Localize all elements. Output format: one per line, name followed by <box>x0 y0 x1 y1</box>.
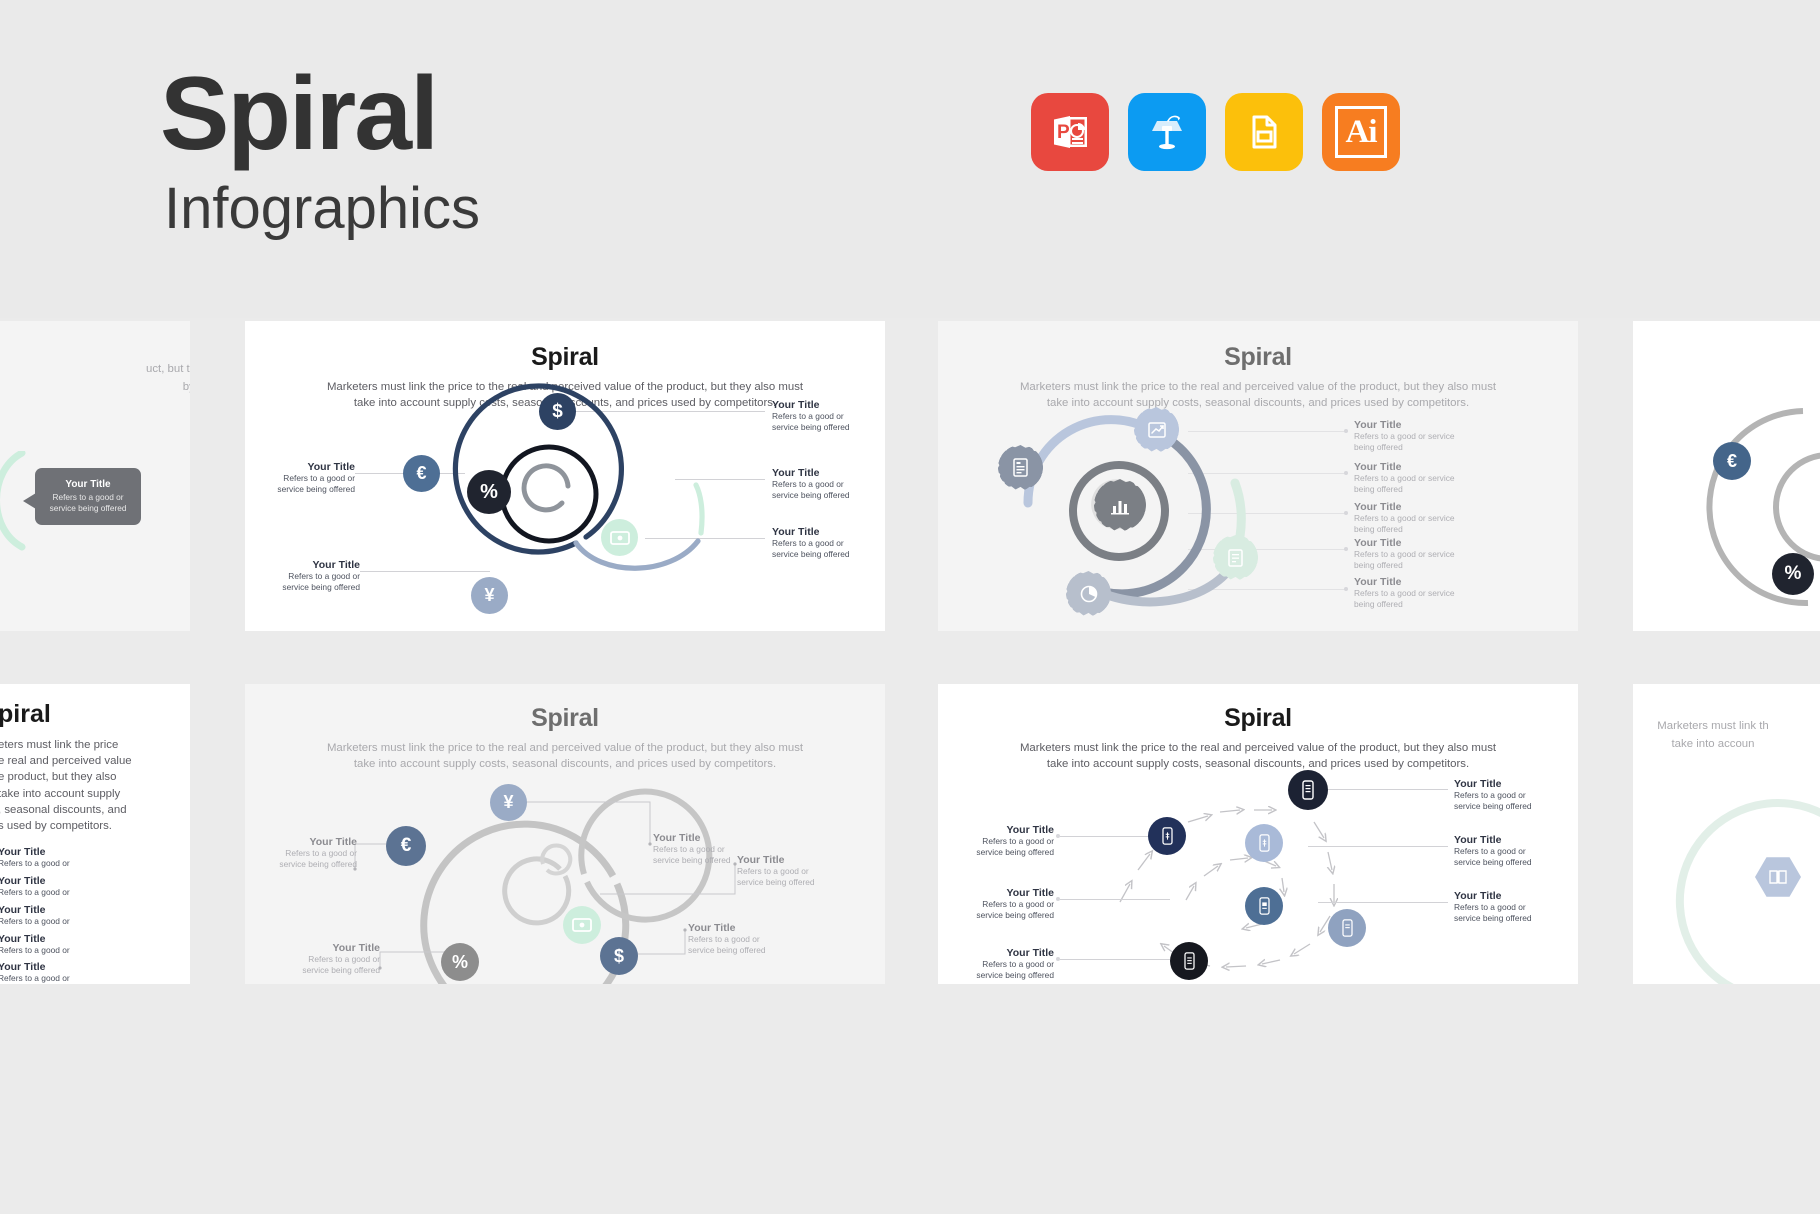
label-group: Your Title Refers to a good or <box>0 933 190 956</box>
banknote-icon <box>610 531 630 545</box>
label-body: Refers to a good or service being offere… <box>1354 549 1464 571</box>
leader-dot <box>1056 834 1060 838</box>
slide-1-circular-navy[interactable]: Spiral Marketers must link the price to … <box>245 321 885 631</box>
label-body: Refers to a good or service being offere… <box>1354 431 1464 453</box>
label-title: Your Title <box>1354 501 1464 513</box>
label-title: Your Title <box>1454 778 1554 790</box>
banknote-icon <box>572 918 592 932</box>
label-body: Refers to a good or service being offere… <box>1354 513 1464 535</box>
label-title: Your Title <box>954 947 1054 959</box>
slide-desc-fragment-2: by competitors. <box>0 379 190 395</box>
label-title: Your Title <box>255 461 355 473</box>
label-group: Your Title Refers to a good or <box>0 961 190 984</box>
slide-desc-line: eters must link the price <box>0 737 190 753</box>
phone-icon <box>1162 827 1173 845</box>
slide-desc-line: , seasonal discounts, and <box>0 802 190 818</box>
label-group: Your Title Refers to a good or service b… <box>280 942 380 976</box>
node-banknote[interactable] <box>601 519 638 556</box>
leader-line <box>1060 899 1170 900</box>
leader-dot <box>1056 897 1060 901</box>
slide-title: Spiral <box>245 704 885 733</box>
powerpoint-glyph: P <box>1048 110 1092 154</box>
node-yen[interactable]: ¥ <box>471 577 508 614</box>
label-title: Your Title <box>1354 576 1464 588</box>
leader-line <box>1060 836 1148 837</box>
label-body: Refers to a good or service being offere… <box>954 959 1054 981</box>
label-group: Your Title Refers to a good or service b… <box>1354 537 1464 571</box>
phone-icon <box>1259 897 1270 915</box>
growth-chart-icon <box>1147 421 1167 439</box>
slide-partial-left-top[interactable]: uct, but they also must by competitors. … <box>0 321 190 631</box>
powerpoint-icon[interactable]: P <box>1031 93 1109 171</box>
label-group: Your Title Refers to a good or service b… <box>954 887 1054 921</box>
bar-chart-icon <box>1109 495 1131 515</box>
callout-title: Your Title <box>44 479 132 490</box>
node-phone-lightblue[interactable] <box>1245 824 1283 862</box>
node-percent[interactable]: % <box>441 943 479 981</box>
label-title: Your Title <box>0 961 190 973</box>
leader-line <box>1308 846 1448 847</box>
phone-icon <box>1342 919 1353 937</box>
brand-block: Spiral Infographics <box>160 62 480 238</box>
receipt-icon <box>1227 548 1244 568</box>
phone-icon <box>1302 780 1314 800</box>
label-group: Your Title Refers to a good or service b… <box>1354 576 1464 610</box>
label-title: Your Title <box>1354 537 1464 549</box>
leader-dot <box>1056 957 1060 961</box>
label-body: Refers to a good or service being offere… <box>257 848 357 870</box>
label-group: Your Title Refers to a good or service b… <box>954 824 1054 858</box>
node-dollar[interactable]: $ <box>600 937 638 975</box>
label-title: Your Title <box>0 875 190 887</box>
illustrator-icon[interactable]: Ai <box>1322 93 1400 171</box>
leader-line <box>1318 902 1448 903</box>
node-yen[interactable]: ¥ <box>490 784 527 821</box>
node-phone-black[interactable] <box>1170 942 1208 980</box>
label-body: Refers to a good or <box>0 858 190 869</box>
app-format-icons: P Ai <box>1031 93 1400 171</box>
keynote-glyph <box>1144 109 1190 155</box>
slide-desc-line: e real and perceived value <box>0 753 190 769</box>
label-group: Your Title Refers to a good or service b… <box>1454 834 1554 868</box>
document-icon <box>1012 457 1029 478</box>
slide-desc-fragment-1: uct, but they also must <box>0 361 190 377</box>
dashed-spiral-graphic <box>1068 752 1488 982</box>
label-title: Your Title <box>954 887 1054 899</box>
label-group: Your Title Refers to a good or service b… <box>1354 419 1464 453</box>
label-group: Your Title Refers to a good or service b… <box>737 854 837 888</box>
label-body: Refers to a good or service being offere… <box>772 411 872 433</box>
node-euro[interactable]: € <box>403 455 440 492</box>
slides-grid: uct, but they also must by competitors. … <box>0 318 1820 1214</box>
label-body: Refers to a good or service being offere… <box>1354 588 1464 610</box>
label-title: Your Title <box>772 399 872 411</box>
label-group: Your Title Refers to a good or service b… <box>255 461 355 495</box>
node-dollar[interactable]: $ <box>539 393 576 430</box>
illustrator-box: Ai <box>1335 106 1387 158</box>
node-phone-steel[interactable] <box>1328 909 1366 947</box>
page-subtitle: Infographics <box>164 180 480 238</box>
label-group: Your Title Refers to a good or service b… <box>257 836 357 870</box>
label-body: Refers to a good or service being offere… <box>1454 902 1554 924</box>
label-body: Refers to a good or service being offere… <box>1354 473 1464 495</box>
slide-desc-line: e product, but they also <box>0 769 190 785</box>
slide-title: Spiral <box>938 704 1578 733</box>
slide-2-badge-gray[interactable]: Spiral Marketers must link the price to … <box>938 321 1578 631</box>
slide-desc-fragment-1: Marketers must link th <box>1633 718 1820 734</box>
slide-desc-line: s used by competitors. <box>0 818 190 834</box>
label-title: Your Title <box>772 467 872 479</box>
phone-icon <box>1259 834 1270 852</box>
label-body: Refers to a good or service being offere… <box>954 836 1054 858</box>
slide-partial-right-bottom[interactable]: Marketers must link th take into accoun <box>1633 684 1820 984</box>
label-title: Your Title <box>1354 419 1464 431</box>
slide-partial-right-top[interactable]: € % <box>1633 321 1820 631</box>
label-title: Your Title <box>653 832 753 844</box>
node-phone-dark-top[interactable] <box>1288 770 1328 810</box>
label-group: Your Title Refers to a good or service b… <box>954 947 1054 981</box>
label-body: Refers to a good or <box>0 887 190 898</box>
leader-line <box>1328 789 1448 790</box>
phone-icon <box>1184 952 1195 970</box>
leader-line <box>1060 959 1170 960</box>
label-title: Your Title <box>260 559 360 571</box>
label-group: Your Title Refers to a good or <box>0 846 190 869</box>
slide-3-spiral-elbow[interactable]: Spiral Marketers must link the price to … <box>245 684 885 984</box>
label-title: Your Title <box>280 942 380 954</box>
node-banknote[interactable] <box>563 906 601 944</box>
node-phone-blue[interactable] <box>1245 887 1283 925</box>
node-euro[interactable]: € <box>386 826 426 866</box>
slide-title: Spiral <box>938 343 1578 372</box>
label-title: Your Title <box>954 824 1054 836</box>
callout-body: Refers to a good or service being offere… <box>44 492 132 514</box>
google-slides-glyph <box>1242 110 1286 154</box>
pie-chart-icon <box>1079 584 1099 604</box>
label-body: Refers to a good or service being offere… <box>1454 790 1554 812</box>
label-body: Refers to a good or service being offere… <box>954 899 1054 921</box>
label-title: Your Title <box>1454 890 1554 902</box>
node-phone-navy[interactable] <box>1148 817 1186 855</box>
label-group: Your Title Refers to a good or service b… <box>1354 501 1464 535</box>
label-group: Your Title Refers to a good or service b… <box>260 559 360 593</box>
label-title: Your Title <box>0 904 190 916</box>
slide-desc-line: take into account supply <box>0 786 190 802</box>
label-body: Refers to a good or service being offere… <box>688 934 788 956</box>
svg-text:P: P <box>1057 122 1070 143</box>
spiral-graphic <box>973 383 1393 631</box>
callout-bubble[interactable]: Your Title Refers to a good or service b… <box>35 468 141 525</box>
label-body: Refers to a good or service being offere… <box>772 479 872 501</box>
label-group: Your Title Refers to a good or service b… <box>688 922 788 956</box>
callout-tail <box>23 493 36 509</box>
label-group: Your Title Refers to a good or service b… <box>772 467 872 501</box>
google-slides-icon[interactable] <box>1225 93 1303 171</box>
label-group: Your Title Refers to a good or service b… <box>1454 778 1554 812</box>
label-group: Your Title Refers to a good or service b… <box>772 526 872 560</box>
label-title: Your Title <box>257 836 357 848</box>
label-body: Refers to a good or service being offere… <box>260 571 360 593</box>
keynote-icon[interactable] <box>1128 93 1206 171</box>
label-title: Your Title <box>0 846 190 858</box>
illustrator-label: Ai <box>1346 114 1377 151</box>
label-body: Refers to a good or <box>0 973 190 984</box>
book-icon <box>1768 869 1788 885</box>
spiral-graphic <box>1673 794 1820 984</box>
label-group: Your Title Refers to a good or <box>0 904 190 927</box>
slide-title-fragment: piral <box>0 700 190 729</box>
node-percent[interactable]: % <box>467 470 511 514</box>
label-body: Refers to a good or service being offere… <box>772 538 872 560</box>
slide-partial-left-bottom[interactable]: piral eters must link the price e real a… <box>0 684 190 984</box>
page-title: Spiral <box>160 62 480 166</box>
label-title: Your Title <box>1354 461 1464 473</box>
slide-4-dashed-arrows[interactable]: Spiral Marketers must link the price to … <box>938 684 1578 984</box>
label-title: Your Title <box>688 922 788 934</box>
label-body: Refers to a good or service being offere… <box>280 954 380 976</box>
label-title: Your Title <box>737 854 837 866</box>
label-body: Refers to a good or service being offere… <box>255 473 355 495</box>
label-body: Refers to a good or service being offere… <box>1454 846 1554 868</box>
label-body: Refers to a good or <box>0 945 190 956</box>
slide-desc-fragment-2: take into accoun <box>1633 736 1820 752</box>
node-percent[interactable]: % <box>1772 553 1814 595</box>
label-title: Your Title <box>1454 834 1554 846</box>
node-euro[interactable]: € <box>1713 442 1751 480</box>
label-group: Your Title Refers to a good or <box>0 875 190 898</box>
label-group: Your Title Refers to a good or service b… <box>1354 461 1464 495</box>
label-body: Refers to a good or <box>0 916 190 927</box>
label-group: Your Title Refers to a good or service b… <box>1454 890 1554 924</box>
label-group: Your Title Refers to a good or service b… <box>772 399 872 433</box>
slide-title: Spiral <box>245 343 885 372</box>
label-title: Your Title <box>0 933 190 945</box>
label-title: Your Title <box>772 526 872 538</box>
page-header: Spiral Infographics P <box>0 0 1820 318</box>
label-body: Refers to a good or service being offere… <box>737 866 837 888</box>
